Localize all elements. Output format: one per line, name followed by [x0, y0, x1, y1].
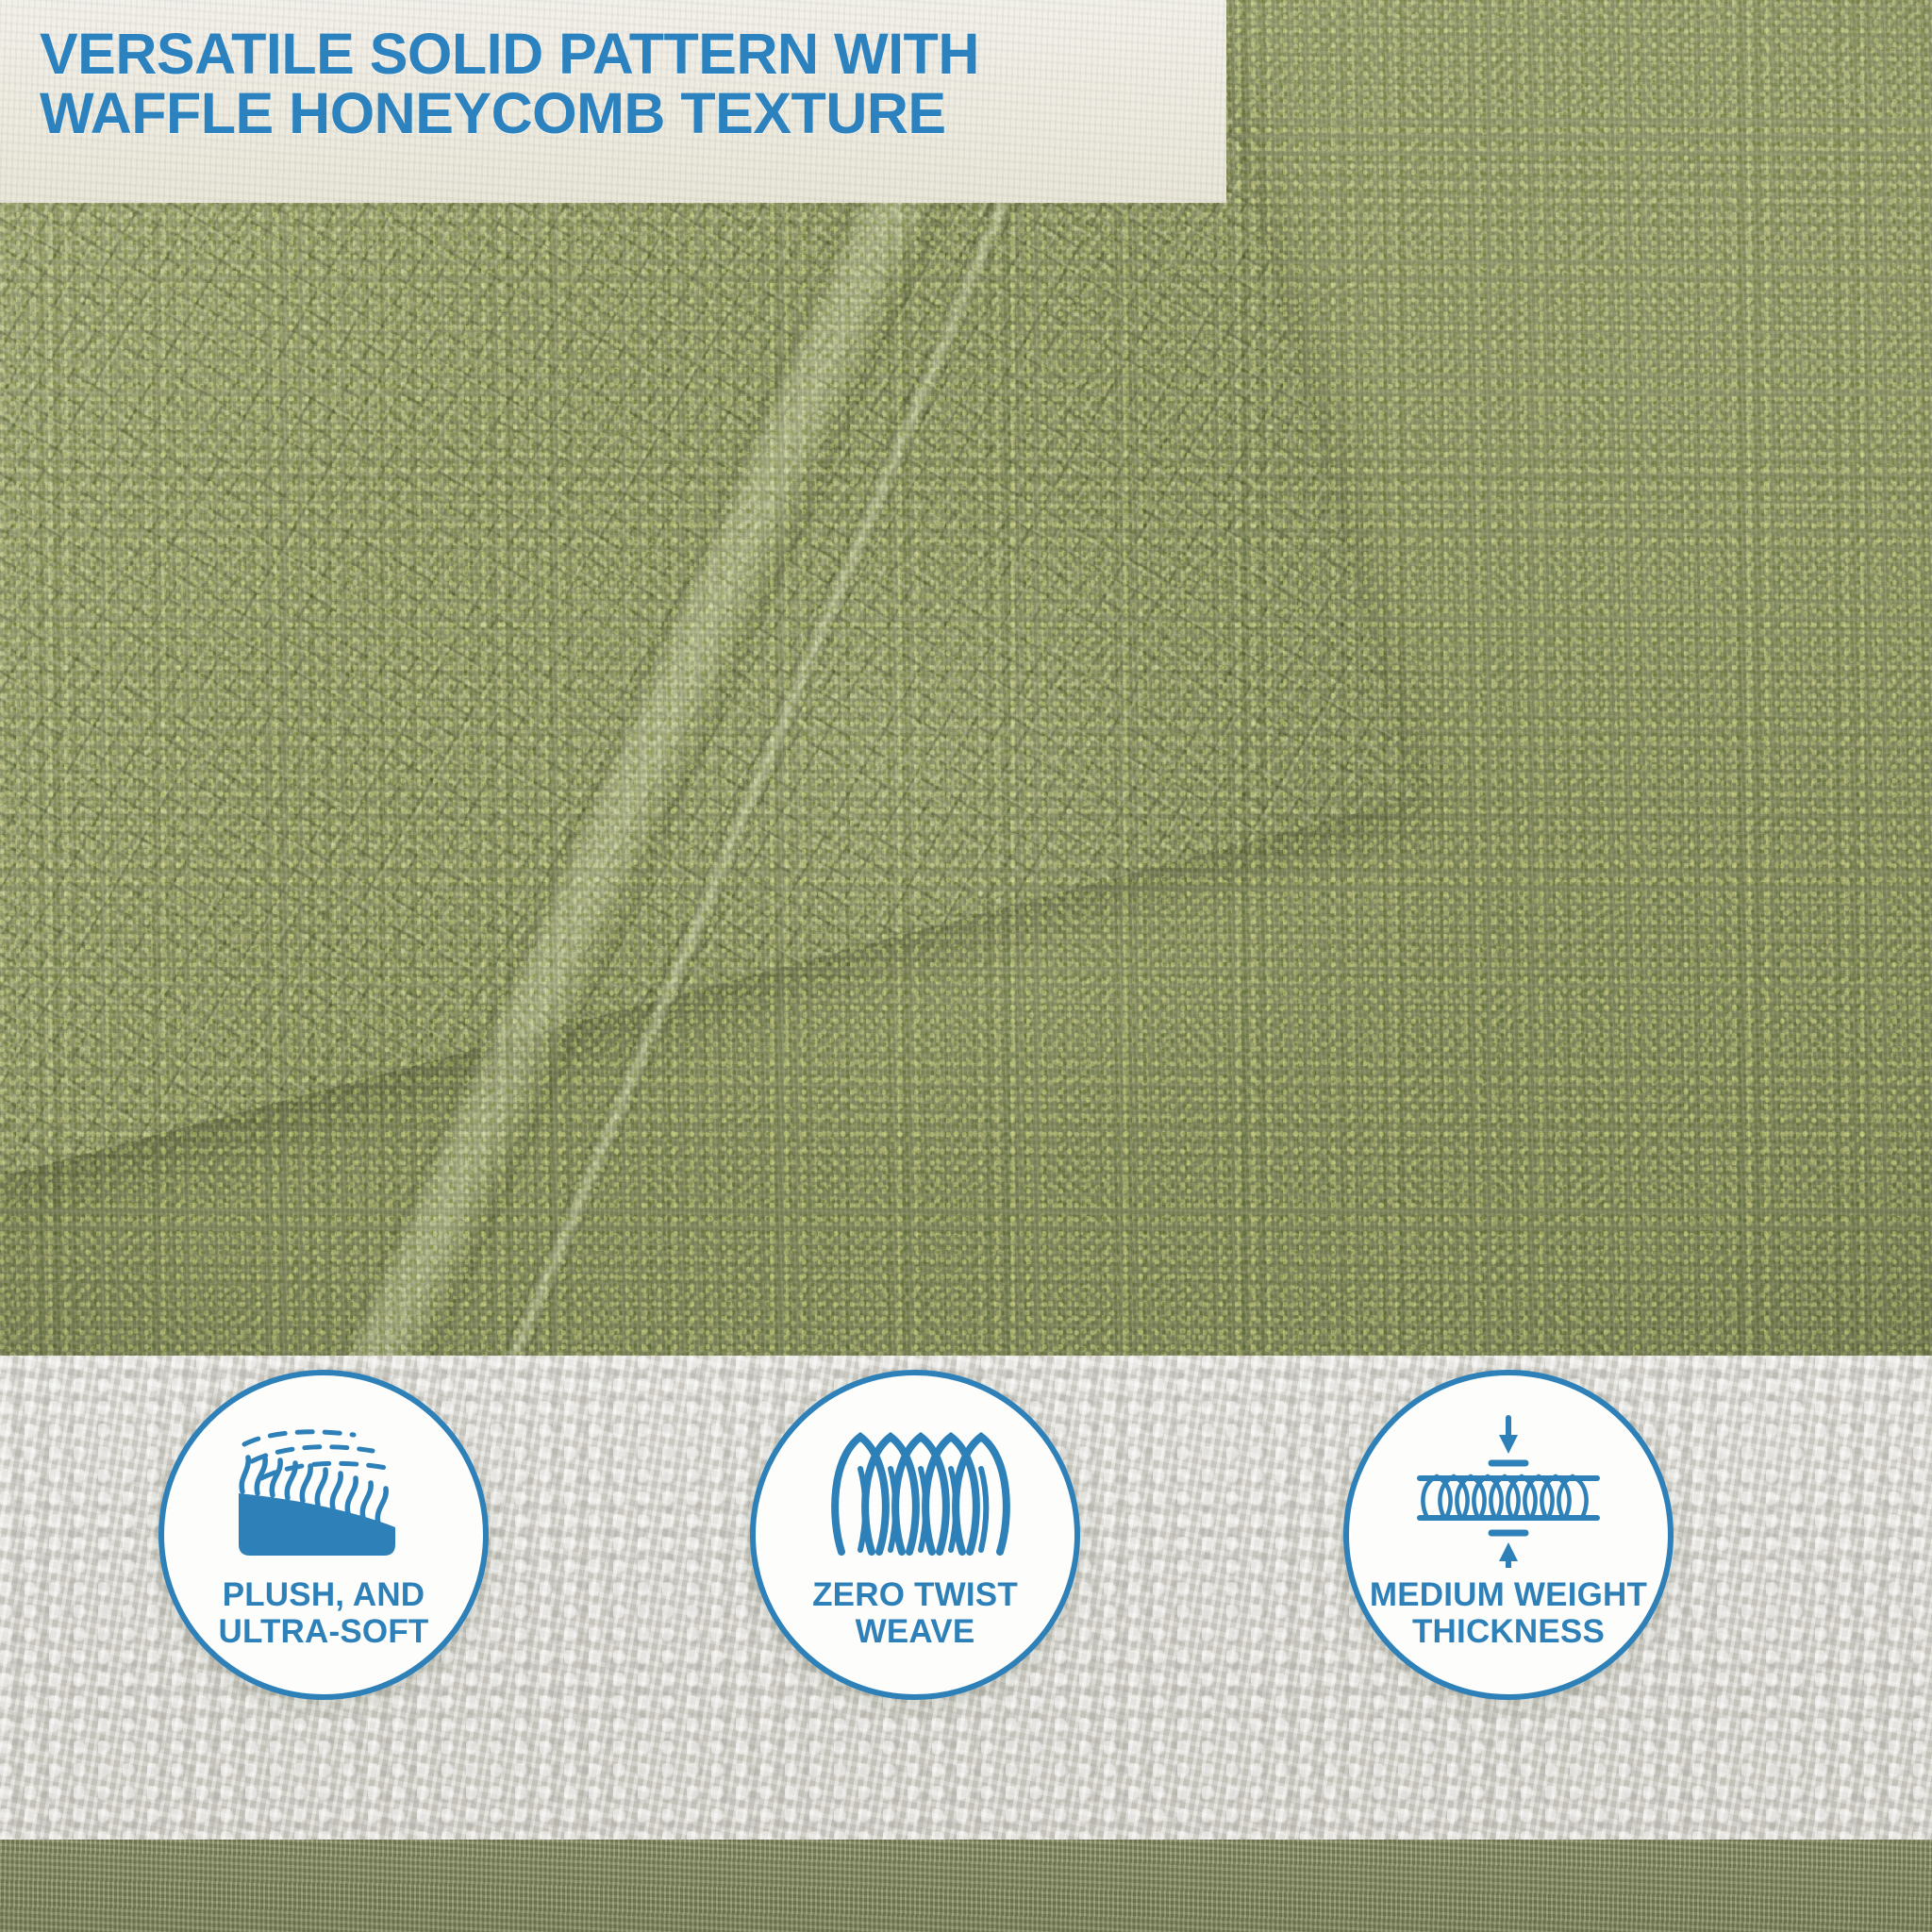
product-feature-image: VERSATILE SOLID PATTERN WITH WAFFLE HONE…: [0, 0, 1932, 1932]
photo-vignette: [0, 0, 1932, 1356]
feature-badge-plush[interactable]: PLUSH, AND ULTRA-SOFT: [158, 1370, 489, 1700]
plush-towel-fibers-icon: [201, 1407, 446, 1573]
headline-line-2: WAFFLE HONEYCOMB TEXTURE: [40, 84, 1189, 143]
towel-photo: [0, 0, 1932, 1356]
feature-badge-zero-twist[interactable]: ZERO TWIST WEAVE: [750, 1370, 1080, 1700]
thickness-arrows-loops-icon: [1386, 1407, 1631, 1573]
zero-twist-yarn-loops-icon: [792, 1407, 1038, 1573]
headline-line-1: VERSATILE SOLID PATTERN WITH: [40, 25, 1189, 84]
feature-badge-thickness[interactable]: MEDIUM WEIGHT THICKNESS: [1343, 1370, 1674, 1700]
page-title: VERSATILE SOLID PATTERN WITH WAFFLE HONE…: [40, 25, 1189, 144]
headline-banner: VERSATILE SOLID PATTERN WITH WAFFLE HONE…: [0, 0, 1226, 203]
bottom-towel-strip: [0, 1840, 1932, 1932]
feature-badge-label: MEDIUM WEIGHT THICKNESS: [1370, 1576, 1647, 1650]
feature-badge-label: ZERO TWIST WEAVE: [812, 1576, 1018, 1650]
feature-badge-label: PLUSH, AND ULTRA-SOFT: [219, 1576, 429, 1650]
